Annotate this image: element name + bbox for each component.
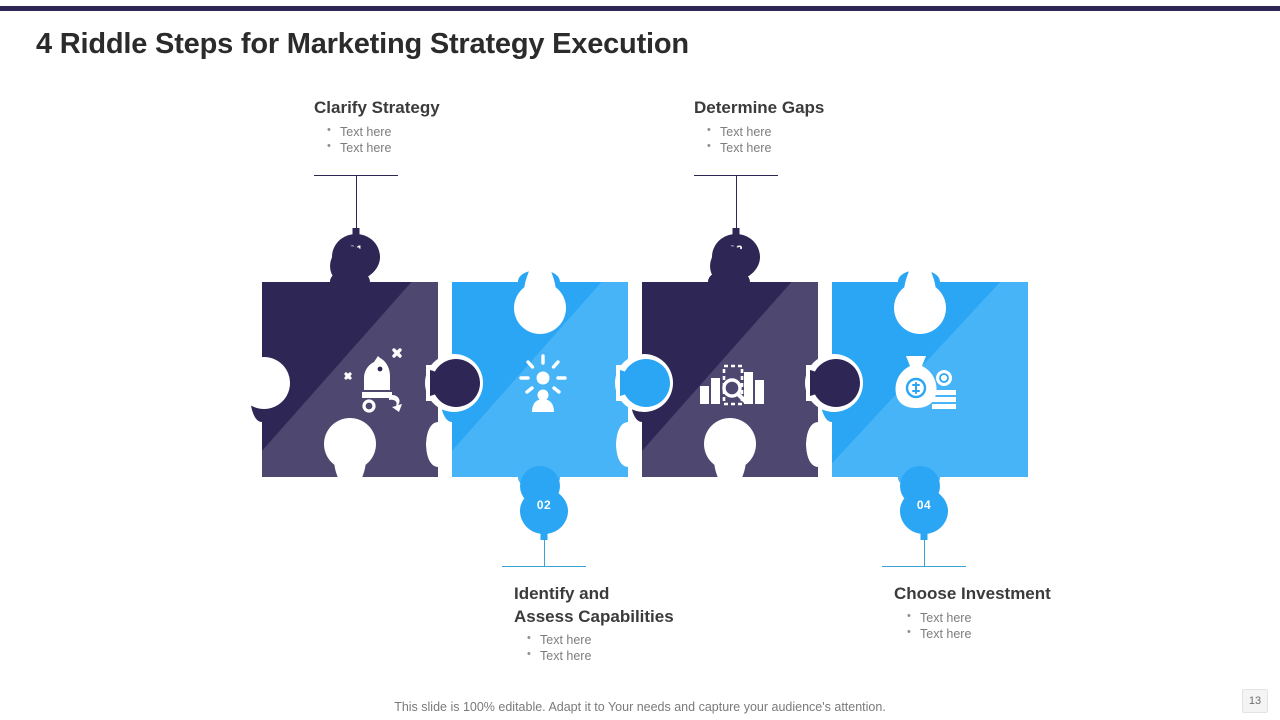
chess-knight-strategy-icon — [342, 350, 412, 412]
caption-bullets-step-03: Text here Text here — [694, 124, 984, 157]
pin-step-04[interactable]: 04 — [898, 476, 950, 528]
caption-step-04: Choose Investment Text here Text here — [894, 583, 1184, 642]
caption-step-01: Clarify Strategy Text here Text here — [314, 97, 604, 156]
list-item: Text here — [694, 140, 984, 156]
caption-title-step-02: Identify and Assess Capabilities — [514, 583, 804, 628]
list-item: Text here — [314, 140, 604, 156]
connector-vline-step-02 — [544, 538, 545, 566]
puzzle-board — [250, 272, 1040, 487]
connector-vline-step-04 — [924, 538, 925, 566]
footer-note: This slide is 100% editable. Adapt it to… — [0, 700, 1280, 714]
top-accent-rule — [0, 6, 1280, 11]
list-item: Text here — [514, 648, 804, 664]
connector-hline-step-04 — [882, 566, 966, 567]
caption-bullets-step-02: Text here Text here — [514, 632, 804, 665]
caption-step-02: Identify and Assess Capabilities Text he… — [514, 583, 804, 665]
list-item: Text here — [894, 610, 1184, 626]
money-bag-coins-icon — [888, 350, 958, 412]
list-item: Text here — [514, 632, 804, 648]
pin-label-04: 04 — [898, 498, 950, 512]
list-item: Text here — [694, 124, 984, 140]
connector-vline-step-03 — [736, 175, 737, 231]
caption-title-step-04: Choose Investment — [894, 583, 1184, 606]
bar-chart-magnifier-icon — [698, 352, 768, 414]
connector-vline-step-01 — [356, 175, 357, 231]
list-item: Text here — [894, 626, 1184, 642]
page-title: 4 Riddle Steps for Marketing Strategy Ex… — [36, 28, 689, 61]
caption-title-step-03: Determine Gaps — [694, 97, 984, 120]
caption-bullets-step-01: Text here Text here — [314, 124, 604, 157]
caption-bullets-step-04: Text here Text here — [894, 610, 1184, 643]
caption-title-step-01: Clarify Strategy — [314, 97, 604, 120]
connector-hline-step-02 — [502, 566, 586, 567]
caption-step-03: Determine Gaps Text here Text here — [694, 97, 984, 156]
page-number-badge: 13 — [1242, 689, 1268, 713]
person-skills-icon — [508, 350, 578, 412]
slide-canvas: 4 Riddle Steps for Marketing Strategy Ex… — [0, 0, 1280, 720]
pin-step-02[interactable]: 02 — [518, 476, 570, 528]
pin-label-02: 02 — [518, 498, 570, 512]
list-item: Text here — [314, 124, 604, 140]
